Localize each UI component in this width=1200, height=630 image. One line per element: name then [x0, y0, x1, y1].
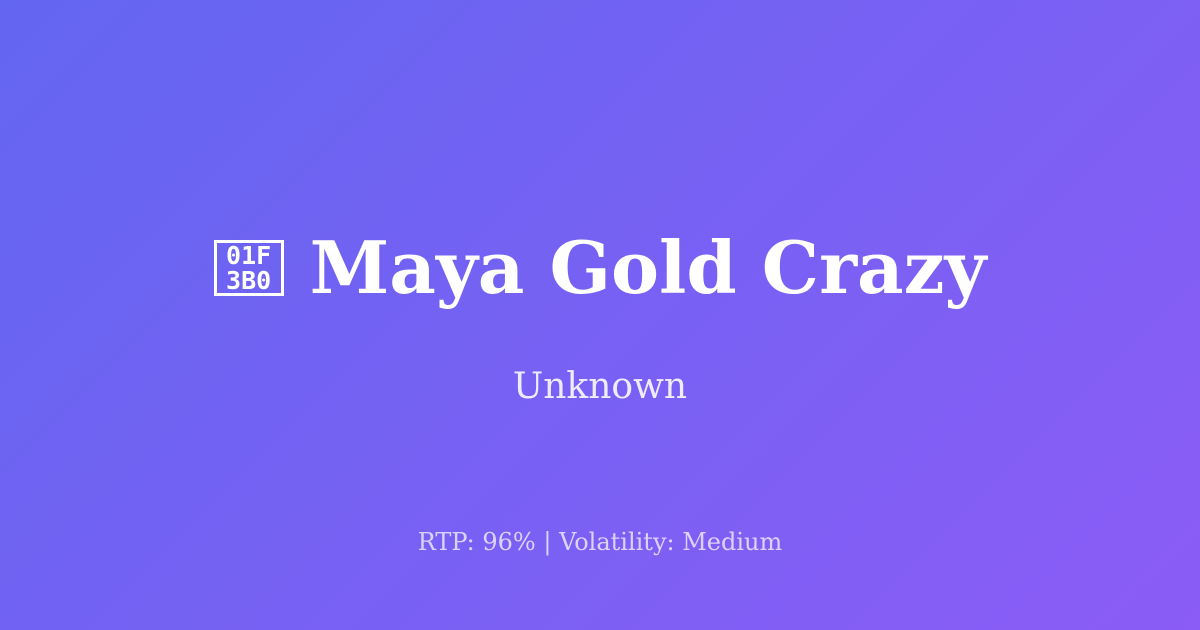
game-stats-line: RTP: 96% | Volatility: Medium: [0, 528, 1200, 557]
game-preview-card: 01F 3B0 Maya Gold Crazy Unknown RTP: 96%…: [0, 0, 1200, 630]
slot-machine-icon-codepoint-low: 3B0: [226, 268, 271, 293]
page-title: Maya Gold Crazy: [310, 232, 987, 304]
provider-subtitle: Unknown: [0, 365, 1200, 408]
slot-machine-icon-codepoint-high: 01F: [226, 243, 271, 268]
title-row: 01F 3B0 Maya Gold Crazy: [0, 232, 1200, 304]
slot-machine-icon: 01F 3B0: [214, 240, 284, 296]
